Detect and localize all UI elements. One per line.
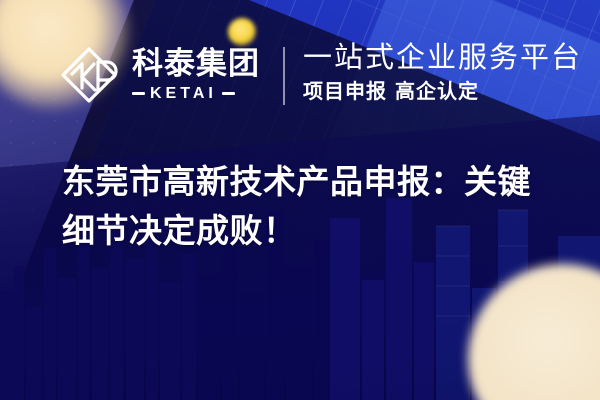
vertical-divider	[283, 47, 285, 105]
dash-left-icon	[132, 92, 145, 95]
brand-name-en-row: KETAI	[132, 86, 260, 102]
promo-banner: 科泰集团 KETAI 一站式企业服务平台 项目申报 高企认定 东莞市高新技术产品…	[0, 0, 600, 400]
brand-name-cn: 科泰集团	[132, 49, 260, 80]
dash-right-icon	[222, 92, 235, 95]
kp-diamond-monogram-icon	[58, 44, 120, 106]
brand-wordmark: 科泰集团 KETAI	[132, 49, 260, 102]
tagline-sub: 项目申报 高企认定	[303, 80, 582, 102]
headline-text: 东莞市高新技术产品申报：关键细节决定成败！	[62, 158, 562, 256]
tagline-main: 一站式企业服务平台	[303, 42, 582, 74]
brand-name-en: KETAI	[150, 86, 217, 102]
gold-glow-dot-icon	[228, 18, 256, 46]
brand-logo: 科泰集团 KETAI	[58, 44, 260, 106]
tagline-block: 一站式企业服务平台 项目申报 高企认定	[303, 42, 582, 102]
